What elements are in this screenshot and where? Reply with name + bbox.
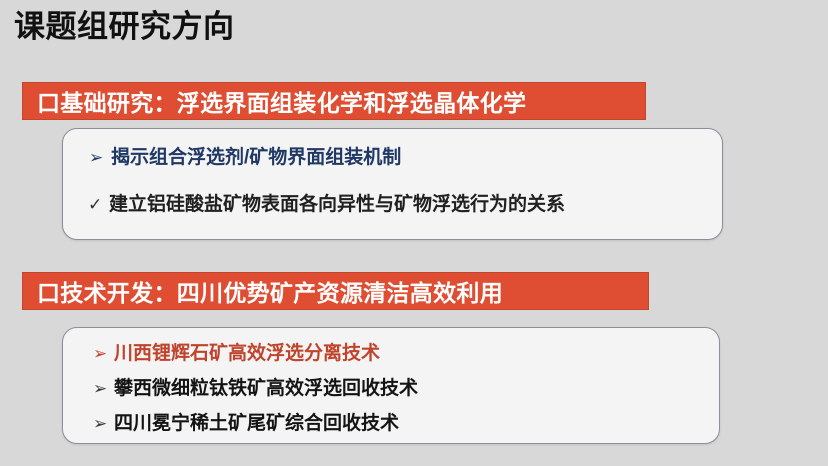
list-item: ✓ 建立铝硅酸盐矿物表面各向异性与矿物浮选行为的关系 (88, 189, 565, 216)
list-item-label: 川西锂辉石矿高效浮选分离技术 (114, 338, 380, 365)
check-bullet-icon: ✓ (88, 195, 109, 215)
list-item: ➢ 川西锂辉石矿高效浮选分离技术 (93, 338, 380, 365)
list-item-label: 建立铝硅酸盐矿物表面各向异性与矿物浮选行为的关系 (109, 189, 565, 216)
slide-canvas: 课题组研究方向 口基础研究：浮选界面组装化学和浮选晶体化学 ➢ 揭示组合浮选剂/… (0, 0, 828, 466)
list-item: ➢ 揭示组合浮选剂/矿物界面组装机制 (89, 142, 401, 169)
section-banner-basic-research: 口基础研究：浮选界面组装化学和浮选晶体化学 (22, 82, 646, 120)
section-banner-label: 口技术开发：四川优势矿产资源清洁高效利用 (23, 274, 503, 308)
list-item: ➢ 攀西微细粒钛铁矿高效浮选回收技术 (93, 373, 418, 400)
section-banner-technology-development: 口技术开发：四川优势矿产资源清洁高效利用 (22, 272, 649, 310)
list-item-label: 揭示组合浮选剂/矿物界面组装机制 (111, 142, 401, 169)
content-card-technology-development: ➢ 川西锂辉石矿高效浮选分离技术 ➢ 攀西微细粒钛铁矿高效浮选回收技术 ➢ 四川… (62, 327, 720, 444)
arrow-bullet-icon: ➢ (93, 344, 114, 364)
page-title: 课题组研究方向 (14, 6, 235, 48)
arrow-bullet-icon: ➢ (89, 148, 111, 168)
list-item: ➢ 四川冕宁稀土矿尾矿综合回收技术 (93, 408, 399, 435)
list-item-label: 攀西微细粒钛铁矿高效浮选回收技术 (114, 373, 418, 400)
list-item-label: 四川冕宁稀土矿尾矿综合回收技术 (114, 408, 399, 435)
section-banner-label: 口基础研究：浮选界面组装化学和浮选晶体化学 (23, 84, 526, 118)
arrow-bullet-icon: ➢ (93, 414, 114, 434)
arrow-bullet-icon: ➢ (93, 379, 114, 399)
content-card-basic-research: ➢ 揭示组合浮选剂/矿物界面组装机制 ✓ 建立铝硅酸盐矿物表面各向异性与矿物浮选… (62, 128, 723, 240)
